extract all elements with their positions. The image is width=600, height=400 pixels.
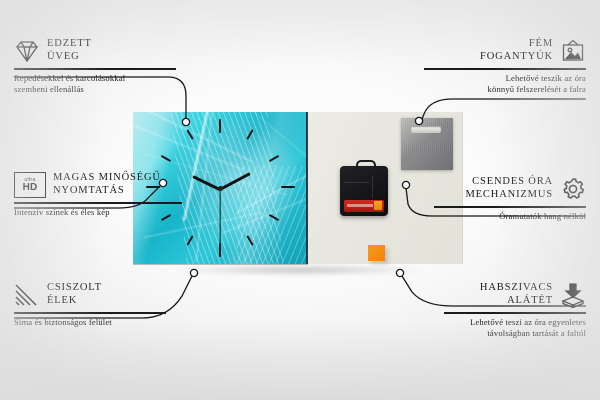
callout-description: Repedésekkel és karcolásokkal szembeni e… [14,73,176,96]
ultra-hd-icon-main: HD [23,183,38,193]
callout-title: EDZETT ÜVEG [47,38,92,64]
callout-title: FÉM FOGANTYÚK [480,38,553,64]
clock-tick [281,186,295,188]
battery [344,200,384,212]
battery-plus-terminal [374,201,382,210]
callout-description: Sima és biztonságos felület [14,317,166,328]
callout-metal-handles[interactable]: FÉM FOGANTYÚK Lehetővé teszik az óra kön… [424,38,586,95]
callout-description: Lehetővé teszi az óra egyenletes távolsá… [444,317,586,340]
callout-title: MAGAS MINŐSÉGŰ NYOMTATÁS [53,172,161,198]
mechanism-loop [356,160,376,171]
callout-tempered-glass[interactable]: EDZETT ÜVEG Repedésekkel és karcolásokka… [14,38,176,95]
callout-foam-spacer[interactable]: HABSZIVACS ALÁTÉT Lehetővé teszi az óra … [444,282,586,339]
callout-rule [434,206,586,208]
callout-rule [424,68,586,70]
callout-silent-mechanism[interactable]: CSENDES ÓRA MECHANIZMUS Óramutatók hang … [434,176,586,222]
callout-rule [444,312,586,314]
callout-rule [14,312,166,314]
gear-icon [560,176,586,202]
callout-polished-edges[interactable]: CSISZOLT ÉLEK Sima és biztonságos felüle… [14,282,166,328]
callout-description: Óramutatók hang nélkül [434,211,586,222]
mechanism-seam [372,176,373,198]
infographic-stage: EDZETT ÜVEG Repedésekkel és karcolásokka… [0,0,600,400]
callout-rule [14,202,182,204]
callout-rule [14,68,176,70]
callout-title: CSENDES ÓRA MECHANIZMUS [465,176,553,202]
foam-pad [368,245,385,261]
diamond-icon [14,38,40,64]
clock-mechanism [340,166,388,216]
battery-label [347,204,373,207]
clock-tick [219,119,221,133]
ultra-hd-icon: ultra HD [14,172,46,198]
clock-hand-second [219,189,220,249]
polished-edges-icon [14,282,40,308]
picture-hanger-icon [560,38,586,64]
callout-high-quality-print[interactable]: ultra HD MAGAS MINŐSÉGŰ NYOMTATÁS Intenz… [14,172,182,218]
callout-title: CSISZOLT ÉLEK [47,282,102,308]
metal-hanger-plate [401,118,453,170]
foam-pad-arrow-icon [560,282,586,308]
mechanism-seam [344,182,370,183]
callout-title: HABSZIVACS ALÁTÉT [480,282,553,308]
callout-description: Lehetővé teszik az óra könnyű felszerelé… [424,73,586,96]
clock-center-pin [218,186,223,191]
product-image [133,112,463,270]
callout-description: Intenzív színek és éles kép [14,207,182,218]
hanger-slot [411,126,441,133]
